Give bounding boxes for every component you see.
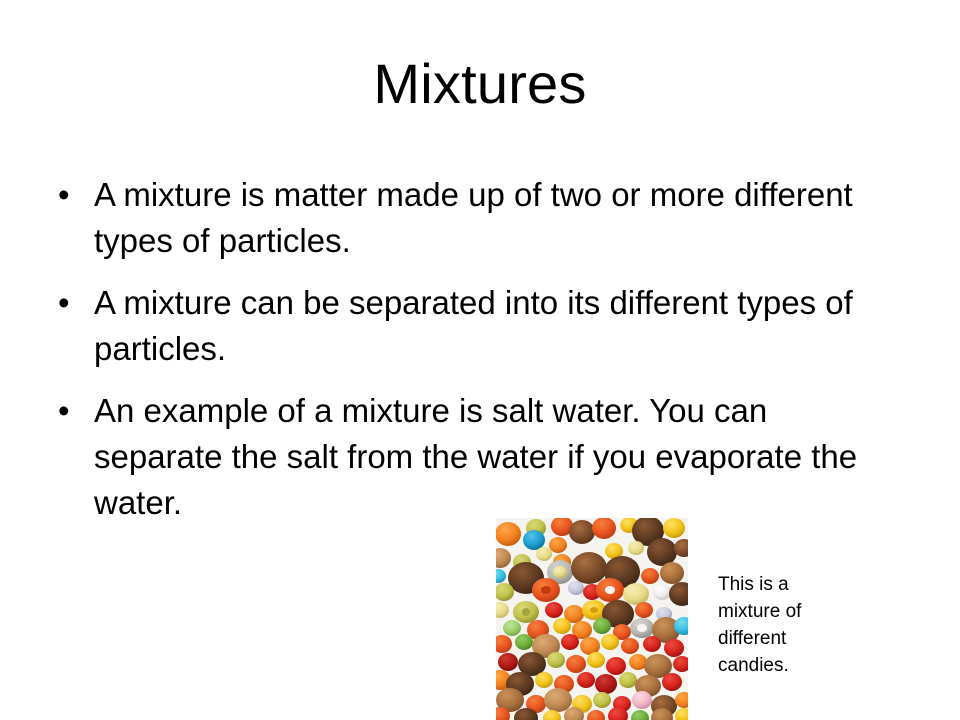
list-item-text: An example of a mixture is salt water. Y… xyxy=(94,388,900,526)
candy-photo-artwork xyxy=(496,518,688,720)
list-item-text: A mixture is matter made up of two or mo… xyxy=(94,172,900,264)
page-title: Mixtures xyxy=(0,52,960,116)
bullet-list: • A mixture is matter made up of two or … xyxy=(52,172,900,526)
list-item: • A mixture can be separated into its di… xyxy=(52,280,900,372)
bullet-point-icon: • xyxy=(58,388,70,434)
list-item: • A mixture is matter made up of two or … xyxy=(52,172,900,264)
list-item-text: A mixture can be separated into its diff… xyxy=(94,280,900,372)
slide-canvas: Mixtures • A mixture is matter made up o… xyxy=(0,0,960,720)
photo-caption: This is a mixture of different candies. xyxy=(718,571,828,679)
bullet-point-icon: • xyxy=(58,280,70,326)
list-item: • An example of a mixture is salt water.… xyxy=(52,388,900,526)
bullet-point-icon: • xyxy=(58,172,70,218)
candy-mixture-photo xyxy=(496,518,688,720)
